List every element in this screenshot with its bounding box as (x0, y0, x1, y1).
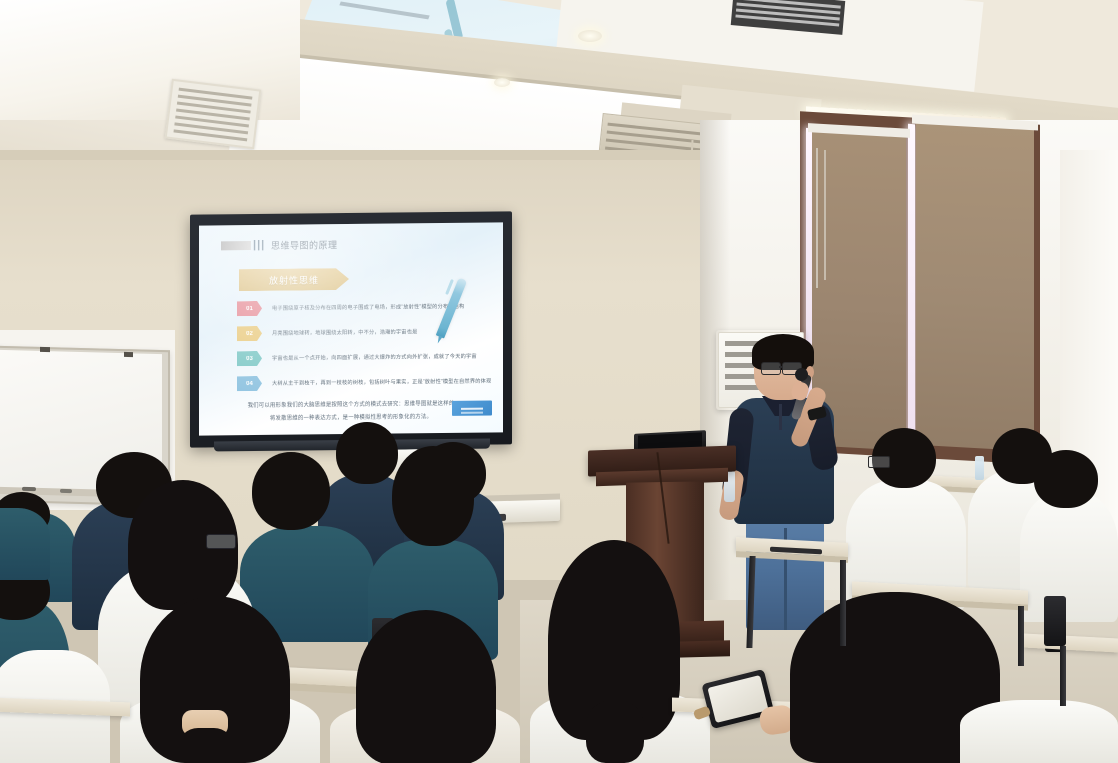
whiteboard-clip-left (40, 347, 50, 352)
slide-banner: 放射性思维 (239, 268, 349, 291)
desk-leg (1060, 646, 1066, 706)
slide-item-text: 电子围绕原子核及分布在四周的电子围成了电场，形成“放射性”模型的分布与结构 (272, 303, 464, 312)
slide-item-row: 03 宇宙也是从一个点开始，向四面扩展，通过大爆炸的方式向外扩张，成就了今天的宇… (237, 349, 477, 367)
slide-item-badge: 04 (237, 376, 262, 391)
student-back-1-head (336, 422, 398, 484)
student-front-3-hair (356, 610, 496, 763)
blind-pull-chain-secondary[interactable] (824, 150, 826, 280)
ceiling-air-vent (165, 79, 262, 150)
slide-item-number: 03 (246, 356, 253, 362)
student-front-2-ponytail (178, 728, 234, 763)
recessed-downlight (578, 30, 602, 42)
slide-item-text: 月亮围绕地球转，地球围绕太阳转，中不分，浩瀚的宇宙也是 (272, 328, 417, 337)
eyeglasses-left-lens-icon (761, 362, 781, 375)
student-front-5-torso (960, 700, 1118, 763)
slide-logo (452, 401, 492, 416)
slide-item-badge: 02 (237, 326, 262, 341)
slide-title-divider: ||| (253, 239, 265, 251)
water-bottle[interactable] (975, 456, 984, 480)
slide-item-row: 02 月亮围绕地球转，地球围绕太阳转，中不分，浩瀚的宇宙也是 (237, 324, 417, 341)
slide-item-number: 01 (246, 306, 253, 312)
slide-item-text: 宇宙也是从一个点开始，向四面扩展，通过大爆炸的方式向外扩张，成就了今天的宇宙 (272, 353, 477, 362)
whiteboard-clip-right (124, 352, 133, 357)
student-mid-2-head (252, 452, 330, 530)
projection-screen[interactable]: ||| 思维导图的原理 放射性思维 01 电子围绕原子核及分布在四周的电子围成了… (199, 222, 503, 435)
student-back-5-head (1034, 450, 1098, 508)
presenter-shirt-placket (779, 404, 782, 430)
slide-title-accent-bar (221, 241, 251, 250)
classroom-photo: ||| 思维导图的原理 放射性思维 01 电子围绕原子核及分布在四周的电子围成了… (0, 0, 1118, 763)
student-front-4-ponytail (586, 700, 644, 763)
presentation-slide: ||| 思维导图的原理 放射性思维 01 电子围绕原子核及分布在四周的电子围成了… (199, 222, 503, 435)
slide-item-text: 大树从主干到枝干，再到一枝枝的树枝，包括树叶与果实，正是“放射性”模型在自然界的… (272, 378, 491, 387)
blind-light-gap-middle (908, 124, 915, 446)
whiteboard-marker[interactable] (22, 487, 36, 491)
eyeglasses-bridge (779, 366, 783, 368)
slide-item-badge: 03 (237, 351, 262, 366)
eyeglasses-icon (868, 456, 890, 468)
slide-banner-label: 放射性思维 (269, 273, 319, 287)
slide-item-number: 02 (246, 331, 253, 337)
student-mid-3-head (392, 446, 474, 546)
recessed-downlight-secondary (494, 78, 510, 87)
desk-leg (840, 560, 846, 646)
student-chair (1044, 596, 1066, 646)
slide-item-number: 04 (246, 381, 253, 387)
whiteboard-eraser[interactable] (60, 489, 72, 493)
blind-pull-chain[interactable] (816, 148, 818, 288)
roller-blind-right[interactable] (916, 119, 1034, 452)
slide-item-row: 01 电子围绕原子核及分布在四周的电子围成了电场，形成“放射性”模型的分布与结构 (237, 299, 464, 316)
slide-title: 思维导图的原理 (271, 238, 338, 252)
student-back-5-torso (1020, 492, 1118, 622)
slide-item-badge: 01 (237, 301, 262, 316)
slide-item-row: 04 大树从主干到枝干，再到一枝枝的树枝，包括树叶与果实，正是“放射性”模型在自… (237, 374, 491, 392)
eyeglasses-icon (206, 534, 236, 549)
student-left-edge-torso (0, 508, 50, 580)
